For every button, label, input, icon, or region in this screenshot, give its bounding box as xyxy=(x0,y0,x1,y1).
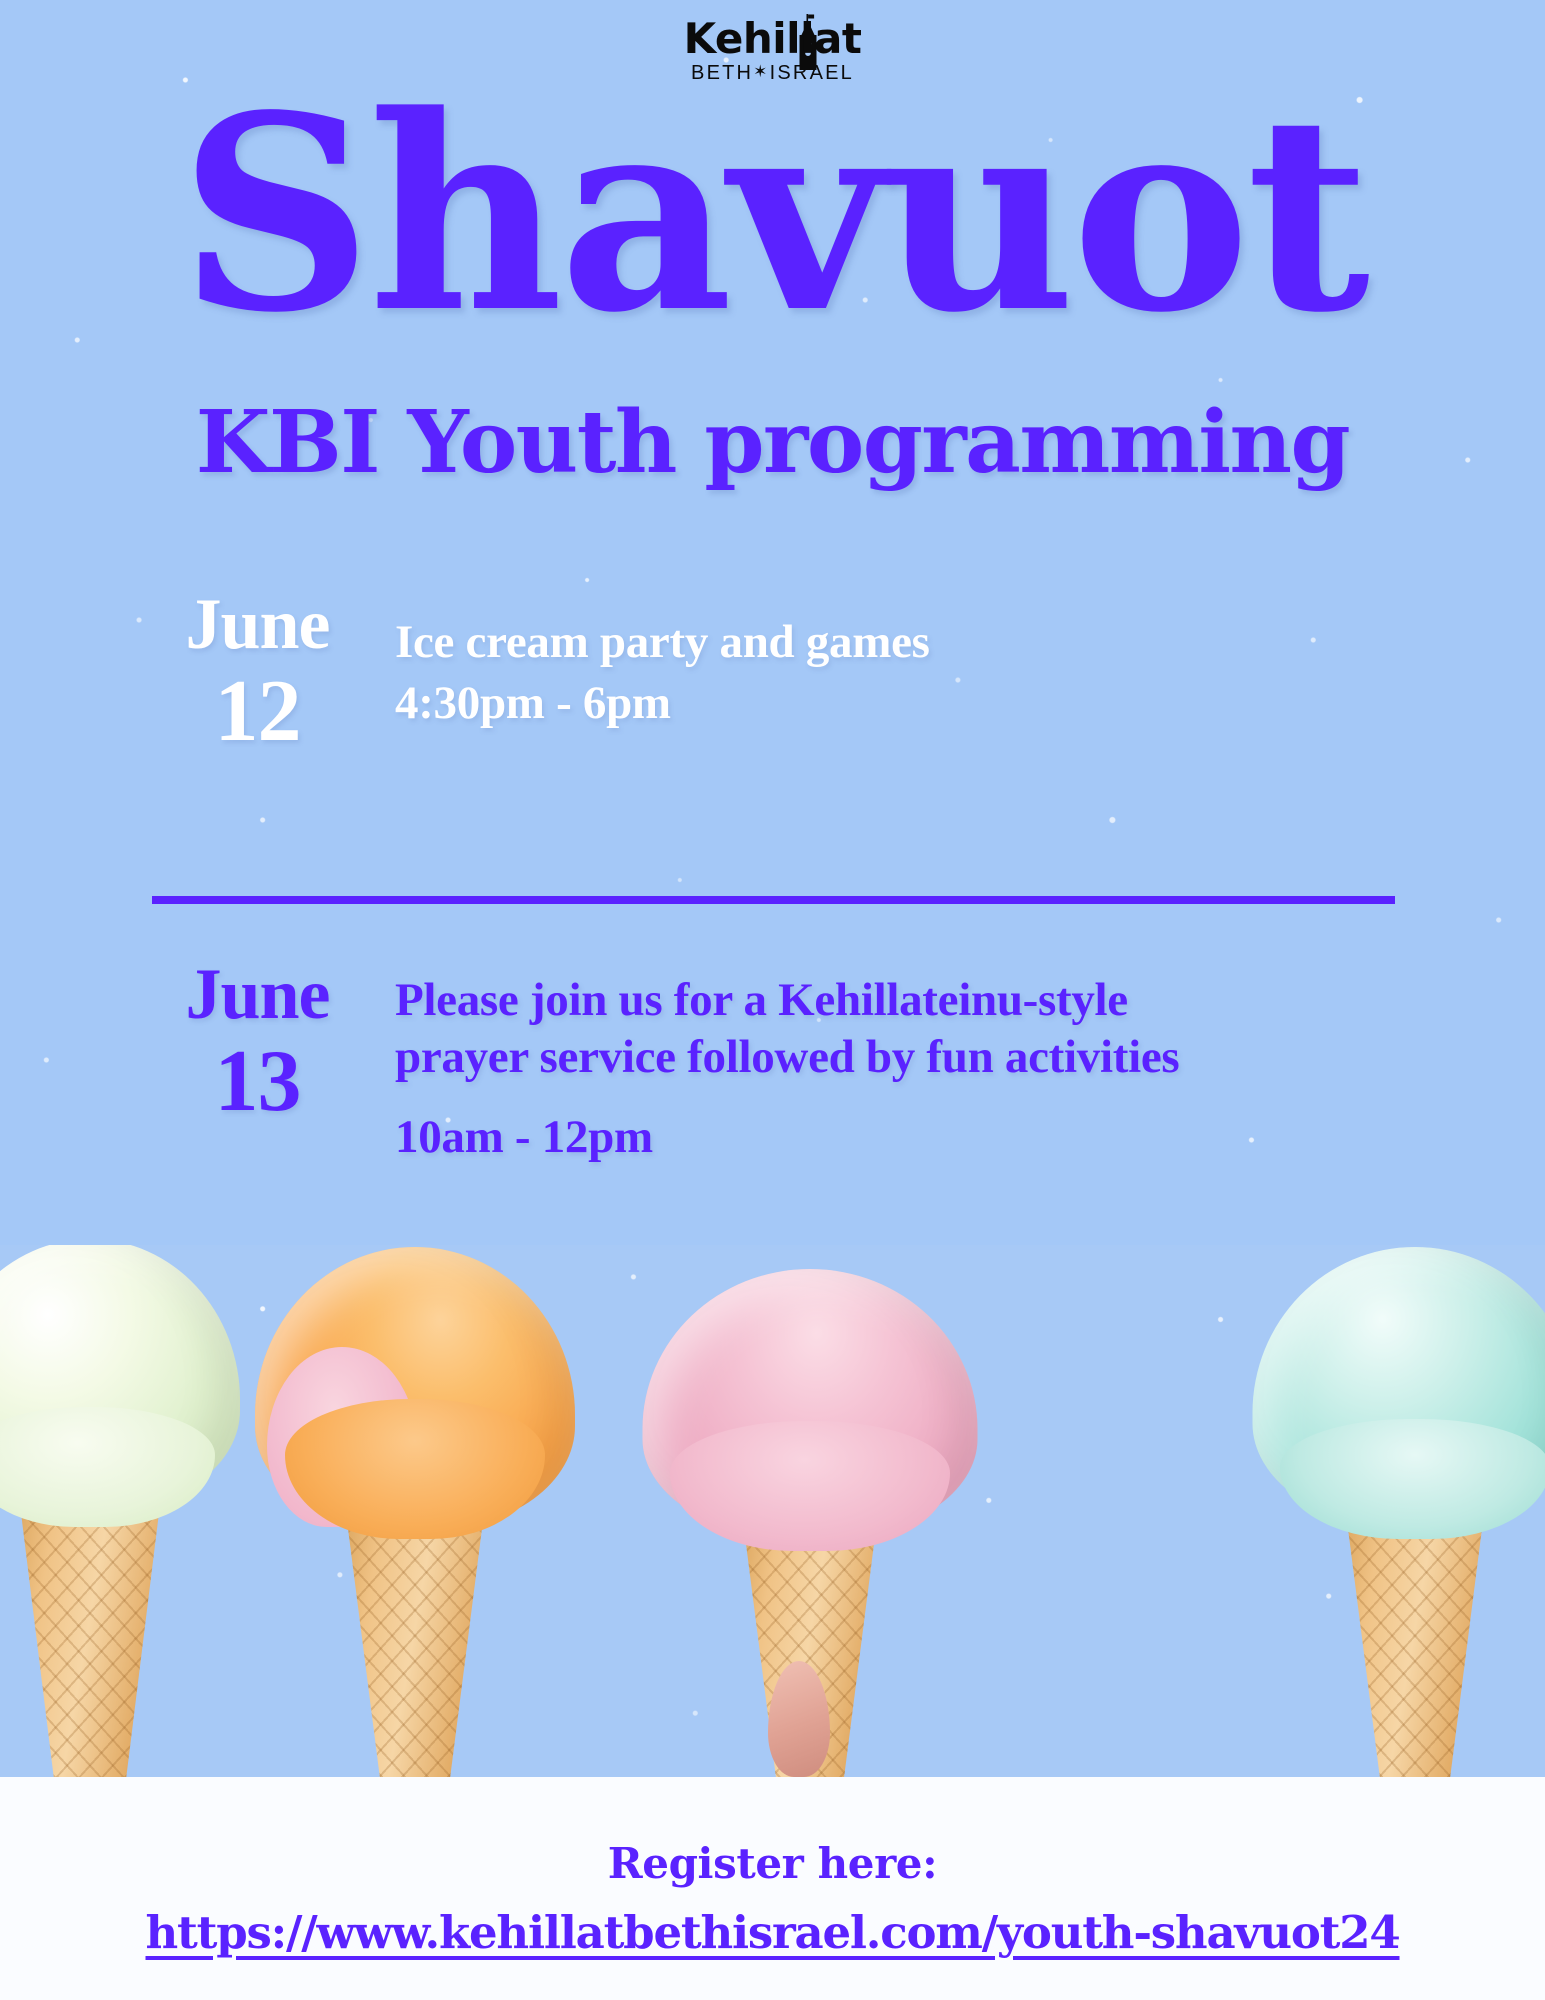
teal-drip xyxy=(1280,1419,1545,1539)
event-month: June xyxy=(150,958,365,1030)
event-date-june-12: June 12 xyxy=(150,588,365,756)
register-label: Register here: xyxy=(0,1839,1545,1888)
mint-green-drip xyxy=(0,1407,215,1527)
ice-cream-cone-strawberry-pink xyxy=(640,1245,980,1777)
event-time: 10am - 12pm xyxy=(395,1109,1179,1166)
event-description: Ice cream party and games xyxy=(395,614,930,671)
event-june-13: June 13 Please join us for a Kehillatein… xyxy=(150,958,1179,1166)
logo-wordmark: Kehillat xyxy=(643,18,903,60)
event-description-line-1: Please join us for a Kehillateinu-style xyxy=(395,972,1179,1029)
orange-drip xyxy=(285,1399,545,1539)
pink-drip xyxy=(670,1421,950,1551)
event-description-line-2: prayer service followed by fun activitie… xyxy=(395,1029,1179,1086)
ice-cream-cone-teal-mint xyxy=(1250,1245,1545,1777)
ice-cream-photo xyxy=(0,1245,1545,1777)
ice-cream-cone-mint-green xyxy=(0,1245,240,1777)
page-title: Shavuot xyxy=(0,92,1545,339)
registration-footer: Register here: https://www.kehillatbethi… xyxy=(0,1777,1545,2000)
event-details-june-13: Please join us for a Kehillateinu-style … xyxy=(365,958,1179,1166)
event-month: June xyxy=(150,588,365,660)
shavuot-flyer: Kehillat BETH✶ISRAEL Shavuot KBI Youth p… xyxy=(0,0,1545,2000)
page-subtitle: KBI Youth programming xyxy=(0,400,1545,486)
event-time: 4:30pm - 6pm xyxy=(395,675,930,732)
registration-link[interactable]: https://www.kehillatbethisrael.com/youth… xyxy=(146,1906,1400,1959)
event-day: 12 xyxy=(150,668,365,756)
event-day: 13 xyxy=(150,1038,365,1126)
section-divider xyxy=(152,896,1395,904)
event-date-june-13: June 13 xyxy=(150,958,365,1126)
event-june-12: June 12 Ice cream party and games 4:30pm… xyxy=(150,588,930,756)
ice-cream-cone-orange-sherbet xyxy=(250,1245,580,1777)
event-details-june-12: Ice cream party and games 4:30pm - 6pm xyxy=(365,588,930,733)
